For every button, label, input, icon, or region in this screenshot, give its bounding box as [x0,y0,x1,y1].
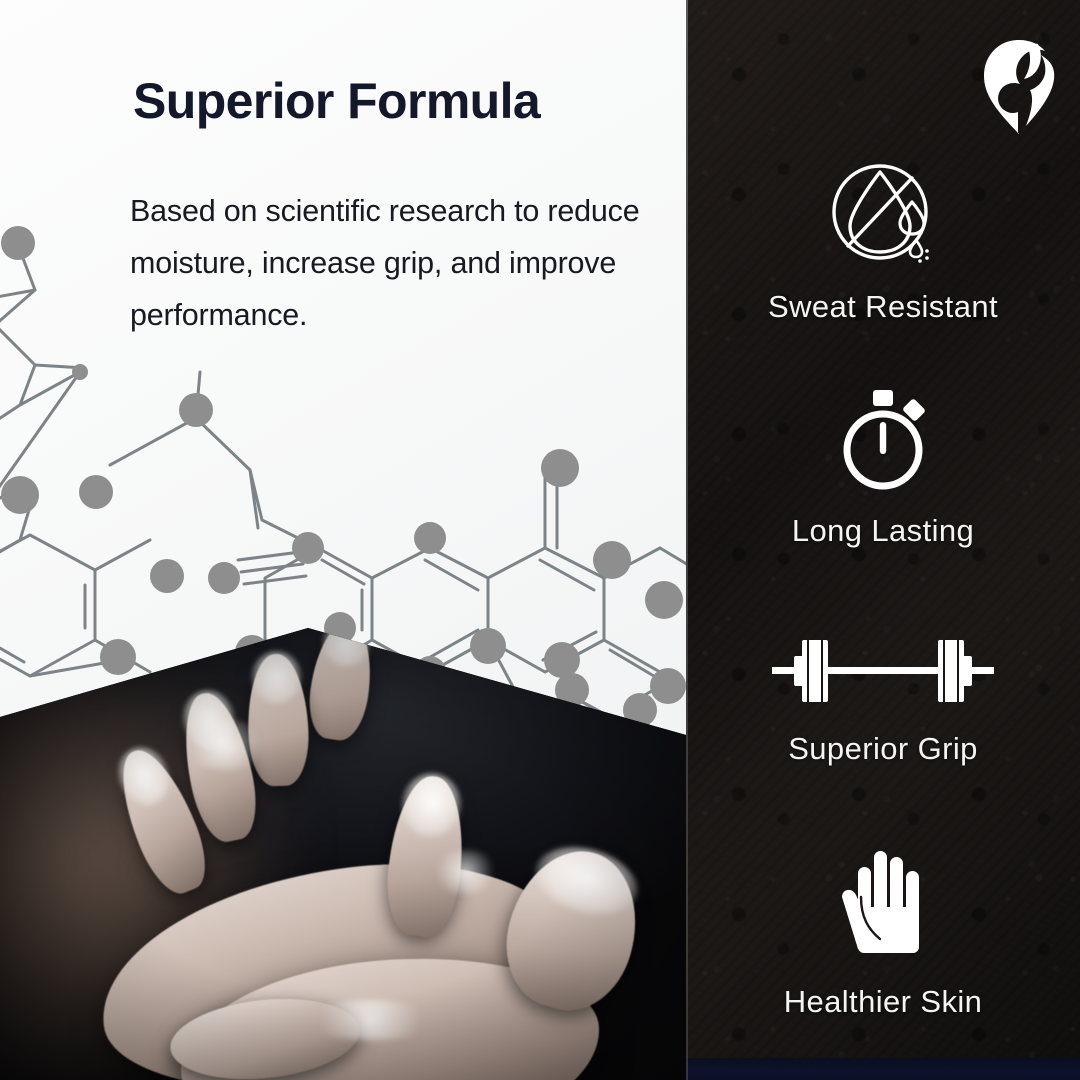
bottom-accent-strip [686,1058,1080,1080]
water-drop-no-sweat-icon [686,152,1080,275]
open-hand-palm-icon [686,845,1080,970]
product-feature-poster: Superior Formula Based on scientific res… [0,0,1080,1080]
feature-item-superior-grip: Superior Grip [686,630,1080,767]
feature-item-sweat-resistant: Sweat Resistant [686,152,1080,325]
left-content-panel: Superior Formula Based on scientific res… [0,0,686,1080]
feature-item-long-lasting: Long Lasting [686,388,1080,549]
subheading-text: Based on scientific research to reduce m… [130,185,660,341]
stopwatch-icon [686,388,1080,499]
barbell-icon [686,630,1080,717]
feature-item-healthier-skin: Healthier Skin [686,845,1080,1020]
right-feature-panel: Sweat Resistant Long Lasting [686,0,1080,1080]
brand-leaf-flame-logo [982,38,1056,134]
panel-divider [686,0,688,1080]
feature-label: Healthier Skin [686,984,1080,1020]
feature-label: Superior Grip [686,731,1080,767]
page-title: Superior Formula [133,72,540,130]
feature-label: Long Lasting [686,513,1080,549]
feature-label: Sweat Resistant [686,289,1080,325]
